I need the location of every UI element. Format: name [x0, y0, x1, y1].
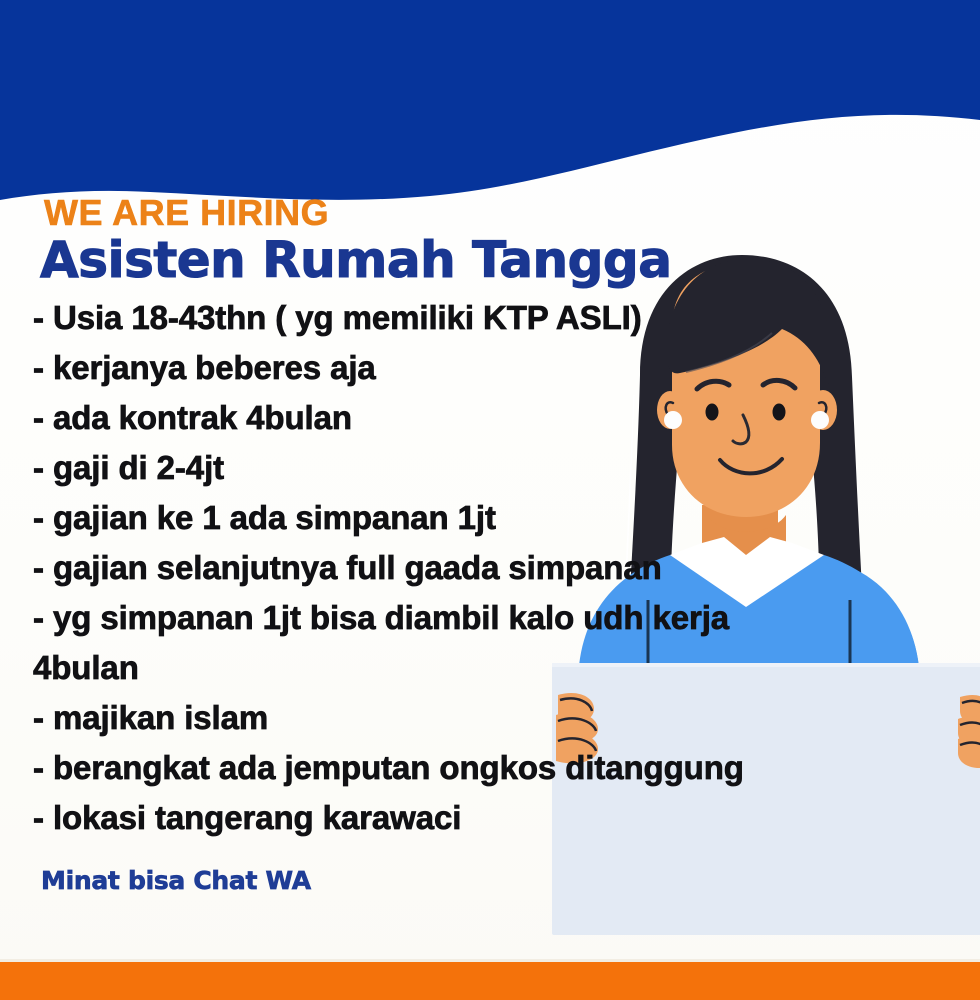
- list-item: - kerjanya beberes aja: [33, 343, 753, 393]
- list-item: - gajian selanjutnya full gaada simpanan: [33, 543, 753, 593]
- list-item: - ada kontrak 4bulan: [33, 393, 753, 443]
- list-item: - lokasi tangerang karawaci: [33, 793, 753, 843]
- contact-cta-text: Minat bisa Chat WA: [41, 866, 311, 895]
- list-item: - berangkat ada jemputan ongkos ditanggu…: [33, 743, 753, 793]
- list-item: - majikan islam: [33, 693, 753, 743]
- list-item: - yg simpanan 1jt bisa diambil kalo udh …: [33, 593, 753, 643]
- list-item: - Usia 18-43thn ( yg memiliki KTP ASLI): [33, 293, 753, 343]
- requirements-list: - Usia 18-43thn ( yg memiliki KTP ASLI) …: [33, 293, 753, 843]
- list-item: - gajian ke 1 ada simpanan 1jt: [33, 493, 753, 543]
- poster-text-content: WE ARE HIRING Asisten Rumah Tangga - Usi…: [0, 0, 980, 1000]
- list-item: - gaji di 2-4jt: [33, 443, 753, 493]
- job-title-headline: Asisten Rumah Tangga: [40, 231, 671, 289]
- list-item-continuation: 4bulan: [33, 643, 753, 693]
- bottom-accent-bar: [0, 962, 980, 1000]
- hiring-poster: WE ARE HIRING Asisten Rumah Tangga - Usi…: [0, 0, 980, 1000]
- kicker-we-are-hiring: WE ARE HIRING: [44, 192, 329, 234]
